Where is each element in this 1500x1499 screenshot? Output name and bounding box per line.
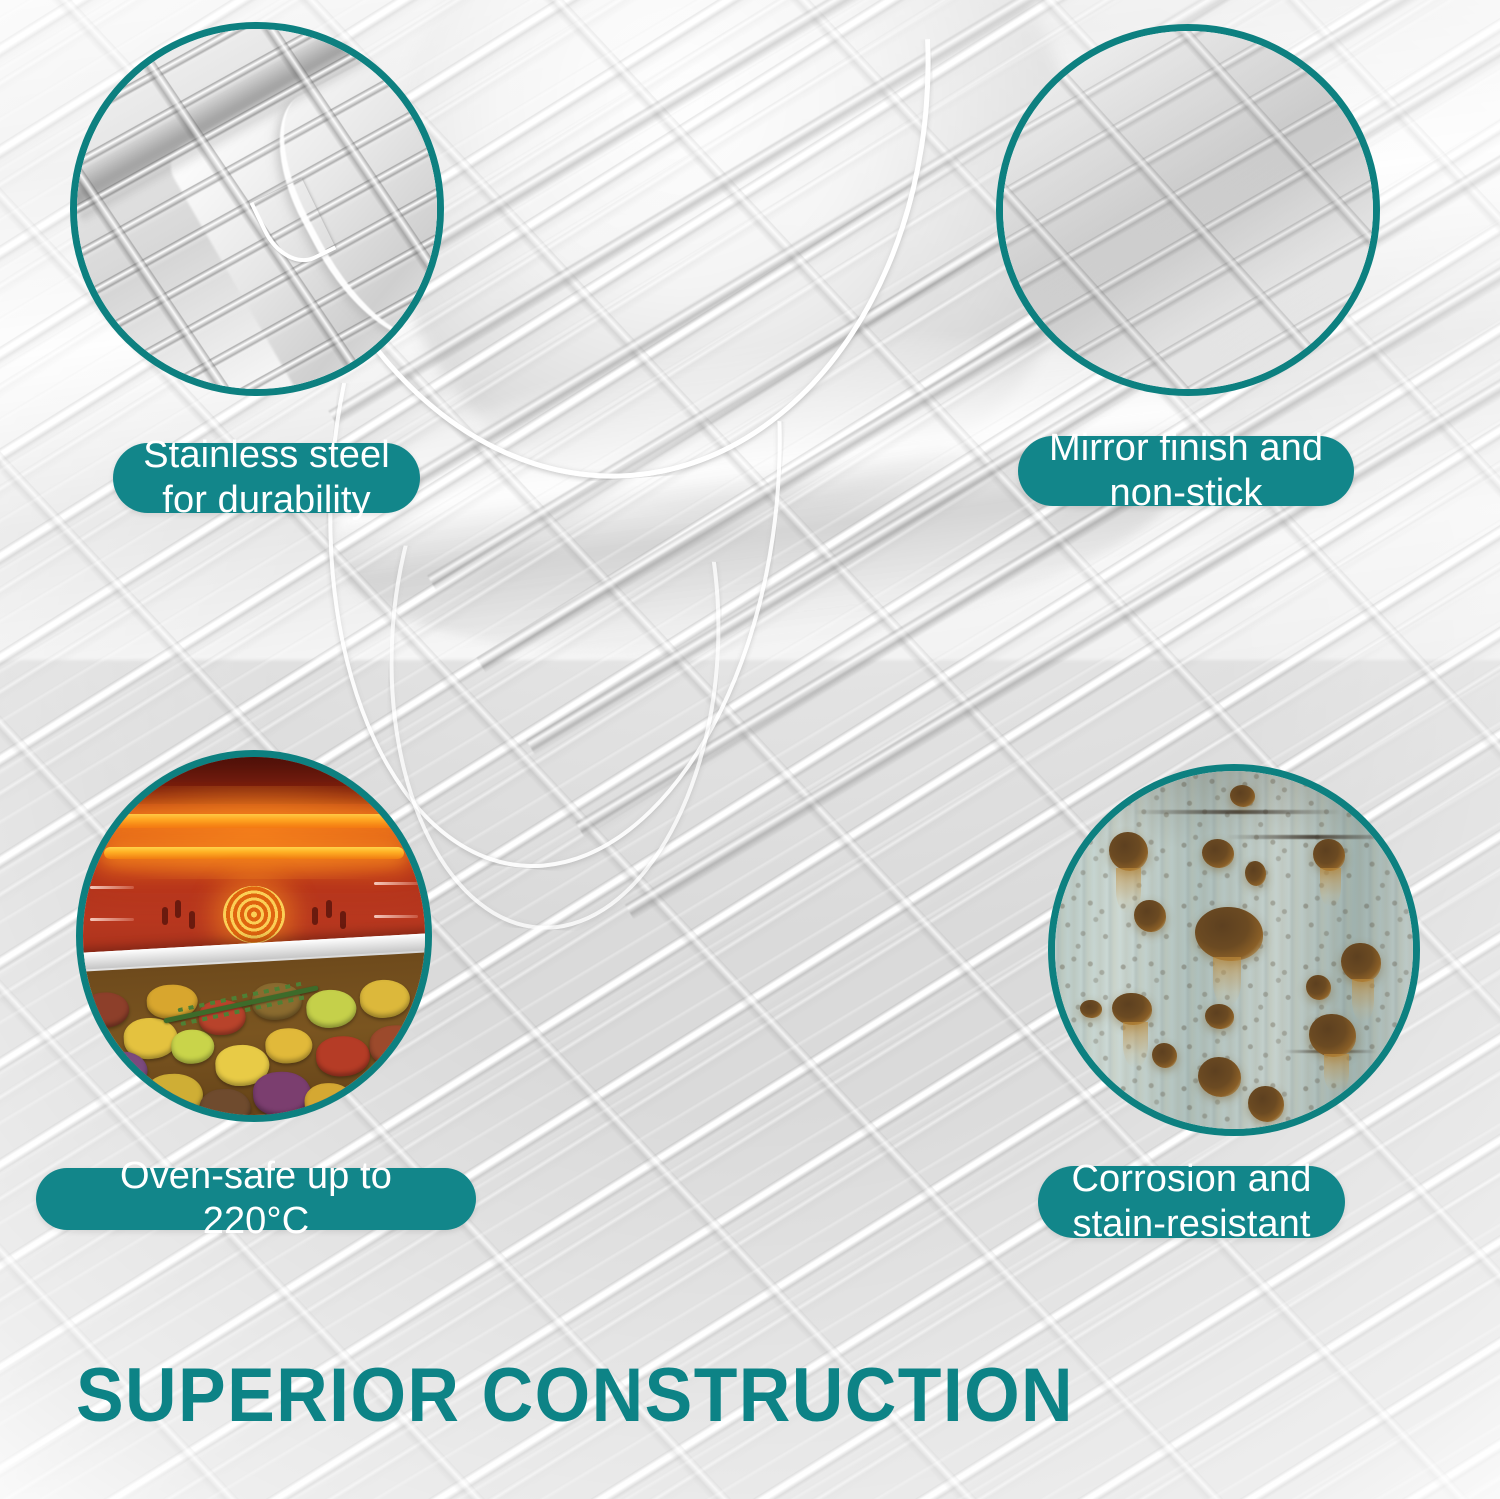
oven-vent-slot: [326, 900, 332, 918]
feature-circle-stainless-steel: [70, 22, 444, 396]
wire-rack-on-tray-closeup-icon: [77, 29, 437, 389]
feature-label-text: Mirror finish and non-stick: [1049, 426, 1323, 516]
corrosion-crack: [1227, 835, 1399, 839]
feature-label-text: Corrosion and stain-resistant: [1072, 1157, 1312, 1247]
oven-heat-glow: [83, 786, 425, 879]
feature-label-line2: stain-resistant: [1072, 1203, 1310, 1245]
feature-label-oven-safe: Oven-safe up to 220°C: [36, 1168, 476, 1230]
oven-shelf-rail: [374, 915, 418, 918]
oven-vent-slot: [340, 911, 346, 929]
feature-circle-oven-safe: [76, 750, 432, 1122]
roasted-vegetables: [83, 953, 425, 1115]
heating-element-top: [97, 814, 412, 828]
oven-with-roasted-vegetables-icon: [83, 757, 425, 1115]
feature-label-line1: Mirror finish and: [1049, 427, 1323, 469]
feature-label-line2: non-stick: [1110, 472, 1263, 514]
oven-shelf-rail: [90, 886, 134, 889]
feature-circle-corrosion-resistant: [1048, 764, 1420, 1136]
heating-element-lower: [104, 847, 405, 859]
corrosion-crack: [1134, 810, 1342, 814]
c2-specular-shade: [1003, 31, 1373, 389]
mirror-mesh-macro-icon: [1003, 31, 1373, 389]
infographic-canvas: Stainless steel for durability Mirror fi…: [0, 0, 1500, 1499]
rusted-metal-texture-icon: [1055, 771, 1413, 1129]
oven-vent-slot: [175, 900, 181, 918]
feature-label-mirror-finish: Mirror finish and non-stick: [1018, 436, 1354, 506]
page-title: SUPERIOR CONSTRUCTION: [76, 1352, 1074, 1439]
feature-label-text: Stainless steel for durability: [143, 433, 390, 523]
heat-spiral-icon: [223, 886, 285, 943]
oven-vent-slot: [189, 911, 195, 929]
oven-shelf-rail: [374, 882, 418, 885]
oven-shelf-rail: [90, 918, 134, 921]
feature-label-line1: Oven-safe up to 220°C: [66, 1154, 446, 1244]
sheet-pan: [83, 933, 425, 1115]
feature-label-corrosion-resistant: Corrosion and stain-resistant: [1038, 1166, 1345, 1238]
feature-label-stainless-steel: Stainless steel for durability: [113, 443, 420, 513]
oven-cavity: [83, 757, 425, 1115]
feature-label-line2: for durability: [162, 479, 370, 521]
oven-vent-slot: [312, 907, 318, 925]
feature-label-line1: Corrosion and: [1072, 1158, 1312, 1200]
oven-vent-slot: [162, 907, 168, 925]
feature-circle-mirror-finish: [996, 24, 1380, 396]
feature-label-line1: Stainless steel: [143, 434, 390, 476]
